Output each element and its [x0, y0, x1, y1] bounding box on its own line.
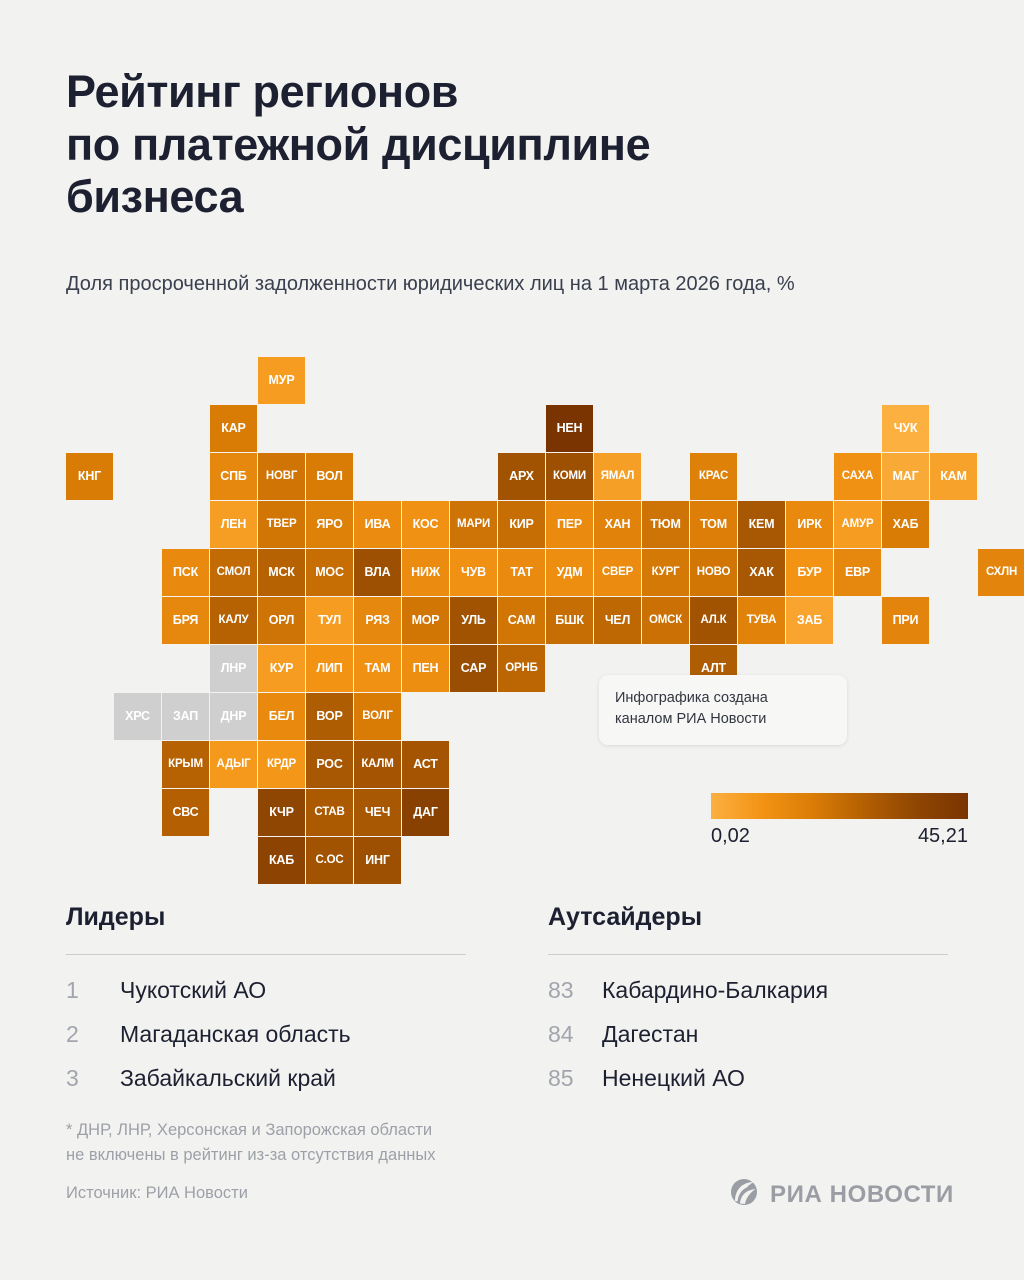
map-tile-МОР[interactable]: МОР [402, 597, 449, 644]
map-tile-САР[interactable]: САР [450, 645, 497, 692]
map-tile-НЕН[interactable]: НЕН [546, 405, 593, 452]
map-tile-КНГ[interactable]: КНГ [66, 453, 113, 500]
map-tile-КАМ[interactable]: КАМ [930, 453, 977, 500]
map-tile-label: АРХ [509, 470, 534, 483]
map-tile-label: ВОЛГ [362, 711, 392, 723]
map-tile-label: ХРС [125, 710, 150, 723]
map-tile-АЛ.К[interactable]: АЛ.К [690, 597, 737, 644]
map-tile-label: САХА [842, 471, 874, 483]
map-tile-КОМИ[interactable]: КОМИ [546, 453, 593, 500]
map-tile-САХА[interactable]: САХА [834, 453, 881, 500]
map-tile-СВС[interactable]: СВС [162, 789, 209, 836]
map-tile-МАРИ[interactable]: МАРИ [450, 501, 497, 548]
map-tile-label: ПСК [173, 566, 198, 579]
map-tile-ВОР[interactable]: ВОР [306, 693, 353, 740]
map-tile-ЯМАЛ[interactable]: ЯМАЛ [594, 453, 641, 500]
map-tile-label: ТУЛ [318, 614, 341, 627]
rank-row: 1Чукотский АО [66, 977, 466, 1004]
map-tile-КАЛУ[interactable]: КАЛУ [210, 597, 257, 644]
map-tile-label: ЯРО [316, 518, 342, 531]
map-tile-ЕВР[interactable]: ЕВР [834, 549, 881, 596]
map-tile-ЧУК[interactable]: ЧУК [882, 405, 929, 452]
map-tile-ТЮМ[interactable]: ТЮМ [642, 501, 689, 548]
map-tile-label: МУР [269, 374, 295, 387]
map-tile-ОМСК[interactable]: ОМСК [642, 597, 689, 644]
map-tile-label: ПЕН [413, 662, 439, 675]
map-tile-label: ИВА [365, 518, 391, 531]
map-tile-label: ТУВА [747, 615, 776, 627]
map-tile-ТУЛ[interactable]: ТУЛ [306, 597, 353, 644]
leaders-heading: Лидеры [66, 903, 466, 932]
map-tile-label: ИРК [797, 518, 821, 531]
map-tile-БУР[interactable]: БУР [786, 549, 833, 596]
map-tile-ИРК[interactable]: ИРК [786, 501, 833, 548]
logo-text: РИА НОВОСТИ [770, 1181, 954, 1209]
rank-region-name: Дагестан [602, 1021, 698, 1048]
map-tile-label: КАБ [269, 854, 294, 867]
map-tile-label: МАРИ [457, 519, 490, 531]
map-tile-label: С.ОС [316, 855, 344, 867]
map-tile-ПЕН[interactable]: ПЕН [402, 645, 449, 692]
map-tile-ЗАП[interactable]: ЗАП [162, 693, 209, 740]
map-tile-label: КЕМ [749, 518, 775, 531]
map-tile-label: КУР [270, 662, 293, 675]
map-tile-label: БУР [797, 566, 821, 579]
map-tile-ЯРО[interactable]: ЯРО [306, 501, 353, 548]
map-tile-label: ДНР [221, 710, 247, 723]
map-tile-ИНГ[interactable]: ИНГ [354, 837, 401, 884]
map-tile-label: ТЮМ [650, 518, 680, 531]
map-tile-ТАТ[interactable]: ТАТ [498, 549, 545, 596]
annotation-line-1: Инфографика создана [615, 688, 831, 709]
rank-row: 85Ненецкий АО [548, 1065, 948, 1092]
map-tile-label: АСТ [413, 758, 437, 771]
map-tile-КРЫМ[interactable]: КРЫМ [162, 741, 209, 788]
map-tile-АДЫГ[interactable]: АДЫГ [210, 741, 257, 788]
map-tile-label: КАР [221, 422, 245, 435]
map-tile-ЧЕЧ[interactable]: ЧЕЧ [354, 789, 401, 836]
map-tile-label: СТАВ [314, 807, 344, 819]
map-tile-label: МОР [412, 614, 440, 627]
map-tile-КРАС[interactable]: КРАС [690, 453, 737, 500]
map-tile-label: НИЖ [411, 566, 440, 579]
map-tile-label: ОРНБ [505, 663, 537, 675]
map-tile-СХЛН[interactable]: СХЛН [978, 549, 1024, 596]
map-tile-РЯЗ[interactable]: РЯЗ [354, 597, 401, 644]
map-tile-label: ПЕР [557, 518, 582, 531]
map-tile-label: ЧЕЧ [365, 806, 390, 819]
map-tile-МУР[interactable]: МУР [258, 357, 305, 404]
title-line-1: Рейтинг регионов [66, 66, 946, 119]
map-tile-label: ХАБ [893, 518, 919, 531]
map-tile-ОРЛ[interactable]: ОРЛ [258, 597, 305, 644]
map-tile-МАГ[interactable]: МАГ [882, 453, 929, 500]
map-tile-label: КОМИ [553, 471, 586, 483]
map-tile-label: ЧУВ [461, 566, 486, 579]
map-tile-label: ПРИ [893, 614, 919, 627]
map-tile-КОС[interactable]: КОС [402, 501, 449, 548]
map-tile-label: СХЛН [986, 567, 1017, 579]
outsiders-divider [548, 954, 948, 955]
map-tile-label: ВЛА [365, 566, 391, 579]
swirl-globe-icon [729, 1177, 759, 1212]
map-tile-label: САМ [508, 614, 536, 627]
map-tile-label: АЛ.К [701, 615, 727, 627]
rank-region-name: Кабардино-Балкария [602, 977, 828, 1004]
map-tile-КЧР[interactable]: КЧР [258, 789, 305, 836]
map-tile-label: КАЛУ [219, 615, 249, 627]
map-tile-label: ТАТ [510, 566, 532, 579]
map-tile-МСК[interactable]: МСК [258, 549, 305, 596]
footnote-line-1: * ДНР, ЛНР, Херсонская и Запорожская обл… [66, 1118, 666, 1143]
map-tile-label: СВЕР [602, 567, 633, 579]
map-tile-label: КЧР [269, 806, 293, 819]
map-tile-label: ЛИП [316, 662, 342, 675]
map-tile-label: ЕВР [845, 566, 870, 579]
map-tile-label: ТОМ [700, 518, 727, 531]
map-tile-label: ВОЛ [316, 470, 342, 483]
footnote: * ДНР, ЛНР, Херсонская и Запорожская обл… [66, 1118, 666, 1168]
map-tile-МОС[interactable]: МОС [306, 549, 353, 596]
annotation-bubble: Инфографика создана каналом РИА Новости [599, 675, 847, 745]
ria-novosti-logo: РИА НОВОСТИ [729, 1177, 954, 1212]
map-tile-ПРИ[interactable]: ПРИ [882, 597, 929, 644]
map-tile-ТВЕР[interactable]: ТВЕР [258, 501, 305, 548]
map-tile-ИВА[interactable]: ИВА [354, 501, 401, 548]
rank-region-name: Забайкальский край [120, 1065, 336, 1092]
map-tile-label: УЛЬ [461, 614, 485, 627]
leaders-list: 1Чукотский АО2Магаданская область3Забайк… [66, 977, 466, 1092]
map-tile-С.ОС[interactable]: С.ОС [306, 837, 353, 884]
map-tile-label: РОС [316, 758, 342, 771]
map-tile-ВОЛГ[interactable]: ВОЛГ [354, 693, 401, 740]
legend-min-label: 0,02 [711, 825, 750, 848]
map-tile-БШК[interactable]: БШК [546, 597, 593, 644]
map-tile-label: НОВО [697, 567, 730, 579]
map-tile-ТОМ[interactable]: ТОМ [690, 501, 737, 548]
map-tile-ЧУВ[interactable]: ЧУВ [450, 549, 497, 596]
rank-row: 2Магаданская область [66, 1021, 466, 1048]
title-line-3: бизнеса [66, 171, 946, 224]
map-tile-label: ДАГ [413, 806, 437, 819]
title-line-2: по платежной дисциплине [66, 119, 946, 172]
map-tile-КУР[interactable]: КУР [258, 645, 305, 692]
map-tile-label: НЕН [557, 422, 583, 435]
legend-labels: 0,02 45,21 [711, 825, 968, 848]
map-tile-label: КАЛМ [361, 759, 393, 771]
map-tile-УДМ[interactable]: УДМ [546, 549, 593, 596]
map-tile-label: КРАС [699, 471, 728, 483]
map-tile-label: КРЫМ [168, 759, 203, 771]
map-tile-КАЛМ[interactable]: КАЛМ [354, 741, 401, 788]
map-tile-АМУР[interactable]: АМУР [834, 501, 881, 548]
map-tile-label: ЧЕЛ [605, 614, 630, 627]
outsiders-list: 83Кабардино-Балкария84Дагестан85Ненецкий… [548, 977, 948, 1092]
map-tile-label: КНГ [78, 470, 101, 483]
rank-row: 84Дагестан [548, 1021, 948, 1048]
page-subtitle: Доля просроченной задолженности юридичес… [66, 270, 926, 298]
map-tile-ЛЕН[interactable]: ЛЕН [210, 501, 257, 548]
map-tile-label: ХАН [605, 518, 631, 531]
map-tile-ЧЕЛ[interactable]: ЧЕЛ [594, 597, 641, 644]
map-tile-СВЕР[interactable]: СВЕР [594, 549, 641, 596]
rank-number: 3 [66, 1065, 120, 1092]
map-tile-label: ЧУК [894, 422, 918, 435]
map-tile-ДАГ[interactable]: ДАГ [402, 789, 449, 836]
map-tile-РОС[interactable]: РОС [306, 741, 353, 788]
rank-number: 85 [548, 1065, 602, 1092]
legend-gradient-bar [711, 793, 968, 819]
rank-number: 84 [548, 1021, 602, 1048]
map-tile-КАБ[interactable]: КАБ [258, 837, 305, 884]
map-tile-label: МСК [268, 566, 294, 579]
page-title: Рейтинг регионов по платежной дисциплине… [66, 66, 946, 224]
rank-region-name: Магаданская область [120, 1021, 351, 1048]
map-tile-label: ХАК [749, 566, 773, 579]
rank-row: 3Забайкальский край [66, 1065, 466, 1092]
map-tile-КРДР[interactable]: КРДР [258, 741, 305, 788]
map-tile-label: МОС [315, 566, 344, 579]
map-tile-label: КУРГ [652, 567, 680, 579]
map-tile-НОВГ[interactable]: НОВГ [258, 453, 305, 500]
map-tile-label: УДМ [557, 566, 583, 579]
map-tile-СТАВ[interactable]: СТАВ [306, 789, 353, 836]
map-tile-label: ЛНР [221, 662, 247, 675]
map-tile-КАР[interactable]: КАР [210, 405, 257, 452]
map-tile-label: КИР [509, 518, 533, 531]
map-tile-label: КРДР [267, 759, 296, 771]
rank-number: 1 [66, 977, 120, 1004]
map-tile-label: ВОР [316, 710, 342, 723]
leaders-divider [66, 954, 466, 955]
map-tile-БРЯ[interactable]: БРЯ [162, 597, 209, 644]
source-label: Источник: РИА Новости [66, 1184, 248, 1203]
map-tile-ХАН[interactable]: ХАН [594, 501, 641, 548]
map-tile-label: СПБ [220, 470, 246, 483]
leaders-column: Лидеры 1Чукотский АО2Магаданская область… [66, 903, 466, 1109]
map-tile-КИР[interactable]: КИР [498, 501, 545, 548]
map-tile-label: РЯЗ [365, 614, 389, 627]
map-tile-label: СМОЛ [217, 567, 251, 579]
map-tile-label: БШК [555, 614, 584, 627]
footnote-line-2: не включены в рейтинг из-за отсутствия д… [66, 1143, 666, 1168]
map-tile-НОВО[interactable]: НОВО [690, 549, 737, 596]
color-legend: 0,02 45,21 [711, 793, 968, 848]
map-tile-ЛНР[interactable]: ЛНР [210, 645, 257, 692]
map-tile-label: ЯМАЛ [601, 471, 635, 483]
map-tile-label: НОВГ [266, 471, 297, 483]
map-tile-label: ОМСК [649, 615, 682, 627]
map-tile-ТАМ[interactable]: ТАМ [354, 645, 401, 692]
map-tile-ОРНБ[interactable]: ОРНБ [498, 645, 545, 692]
map-tile-label: САР [461, 662, 486, 675]
map-tile-ВЛА[interactable]: ВЛА [354, 549, 401, 596]
map-tile-label: СВС [172, 806, 198, 819]
map-tile-ДНР[interactable]: ДНР [210, 693, 257, 740]
map-tile-label: АДЫГ [217, 759, 251, 771]
rank-number: 83 [548, 977, 602, 1004]
map-tile-ТУВА[interactable]: ТУВА [738, 597, 785, 644]
rank-region-name: Ненецкий АО [602, 1065, 745, 1092]
map-tile-ПСК[interactable]: ПСК [162, 549, 209, 596]
map-tile-label: ТВЕР [267, 519, 297, 531]
map-tile-УЛЬ[interactable]: УЛЬ [450, 597, 497, 644]
map-tile-КУРГ[interactable]: КУРГ [642, 549, 689, 596]
map-tile-САМ[interactable]: САМ [498, 597, 545, 644]
map-tile-label: БЕЛ [269, 710, 295, 723]
map-tile-ХАБ[interactable]: ХАБ [882, 501, 929, 548]
map-tile-ВОЛ[interactable]: ВОЛ [306, 453, 353, 500]
map-tile-ХАК[interactable]: ХАК [738, 549, 785, 596]
map-tile-ХРС[interactable]: ХРС [114, 693, 161, 740]
map-tile-АРХ[interactable]: АРХ [498, 453, 545, 500]
map-tile-label: МАГ [893, 470, 919, 483]
map-tile-label: АЛТ [701, 662, 726, 675]
map-tile-СМОЛ[interactable]: СМОЛ [210, 549, 257, 596]
rank-row: 83Кабардино-Балкария [548, 977, 948, 1004]
map-tile-label: КАМ [940, 470, 966, 483]
map-tile-label: ЗАП [173, 710, 198, 723]
map-tile-ЛИП[interactable]: ЛИП [306, 645, 353, 692]
legend-max-label: 45,21 [918, 825, 968, 848]
map-tile-БЕЛ[interactable]: БЕЛ [258, 693, 305, 740]
map-tile-ПЕР[interactable]: ПЕР [546, 501, 593, 548]
map-tile-label: ИНГ [365, 854, 390, 867]
map-tile-label: АМУР [842, 519, 874, 531]
map-tile-СПБ[interactable]: СПБ [210, 453, 257, 500]
infographic-page: Рейтинг регионов по платежной дисциплине… [0, 0, 1024, 1280]
map-tile-label: ОРЛ [269, 614, 294, 627]
map-tile-label: КОС [413, 518, 439, 531]
map-tile-АСТ[interactable]: АСТ [402, 741, 449, 788]
map-tile-ЗАБ[interactable]: ЗАБ [786, 597, 833, 644]
map-tile-label: ЛЕН [221, 518, 247, 531]
rank-number: 2 [66, 1021, 120, 1048]
map-tile-label: ЗАБ [797, 614, 822, 627]
rank-region-name: Чукотский АО [120, 977, 266, 1004]
annotation-line-2: каналом РИА Новости [615, 709, 831, 730]
map-tile-label: БРЯ [173, 614, 198, 627]
outsiders-column: Аутсайдеры 83Кабардино-Балкария84Дагеста… [548, 903, 948, 1109]
map-tile-КЕМ[interactable]: КЕМ [738, 501, 785, 548]
map-tile-label: ТАМ [365, 662, 391, 675]
outsiders-heading: Аутсайдеры [548, 903, 948, 932]
map-tile-НИЖ[interactable]: НИЖ [402, 549, 449, 596]
